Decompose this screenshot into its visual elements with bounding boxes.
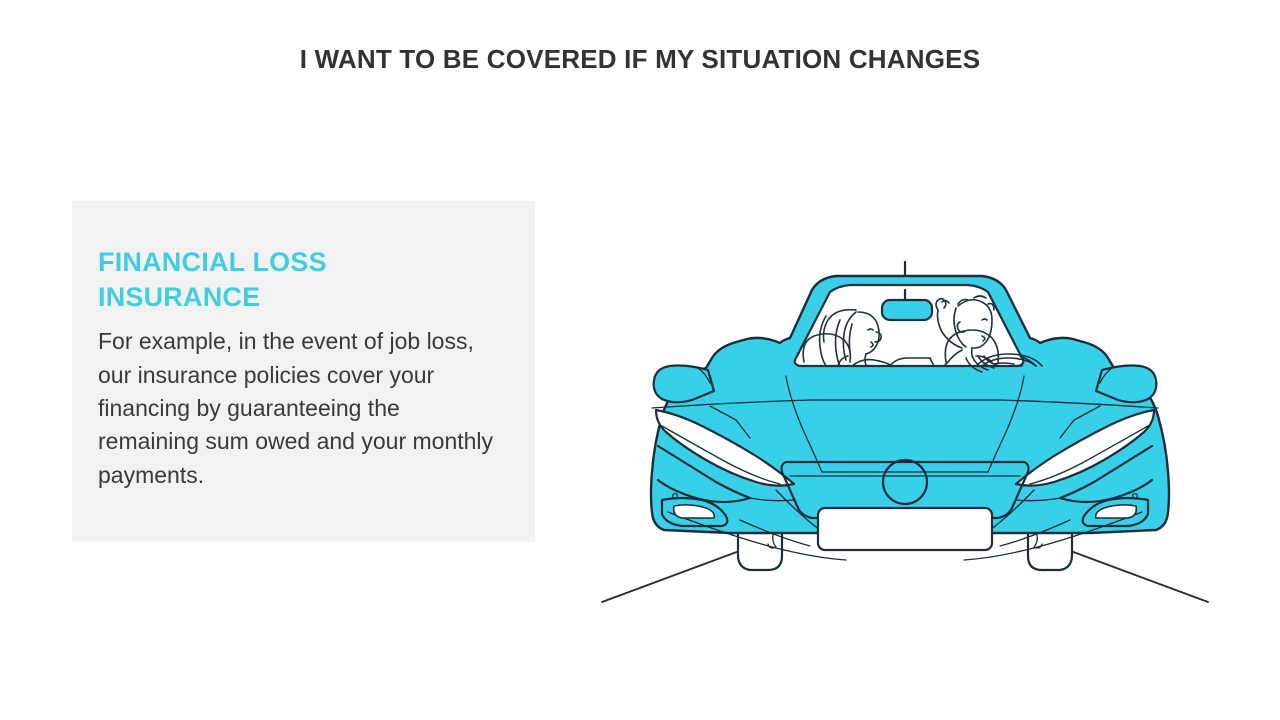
license-plate: [818, 508, 992, 550]
road-lines: [602, 550, 1208, 602]
info-card: FINANCIAL LOSS INSURANCE For example, in…: [72, 201, 535, 542]
page-title: I WANT TO BE COVERED IF MY SITUATION CHA…: [0, 44, 1280, 75]
left-road-line: [602, 550, 742, 602]
right-road-line: [1068, 550, 1208, 602]
windshield: [795, 285, 1024, 366]
card-body-text: For example, in the event of job loss, o…: [98, 325, 503, 492]
card-heading: FINANCIAL LOSS INSURANCE: [98, 245, 398, 315]
car-illustration: .bodyfill { fill: #38d0e8; } .ln { fill:…: [590, 250, 1220, 615]
